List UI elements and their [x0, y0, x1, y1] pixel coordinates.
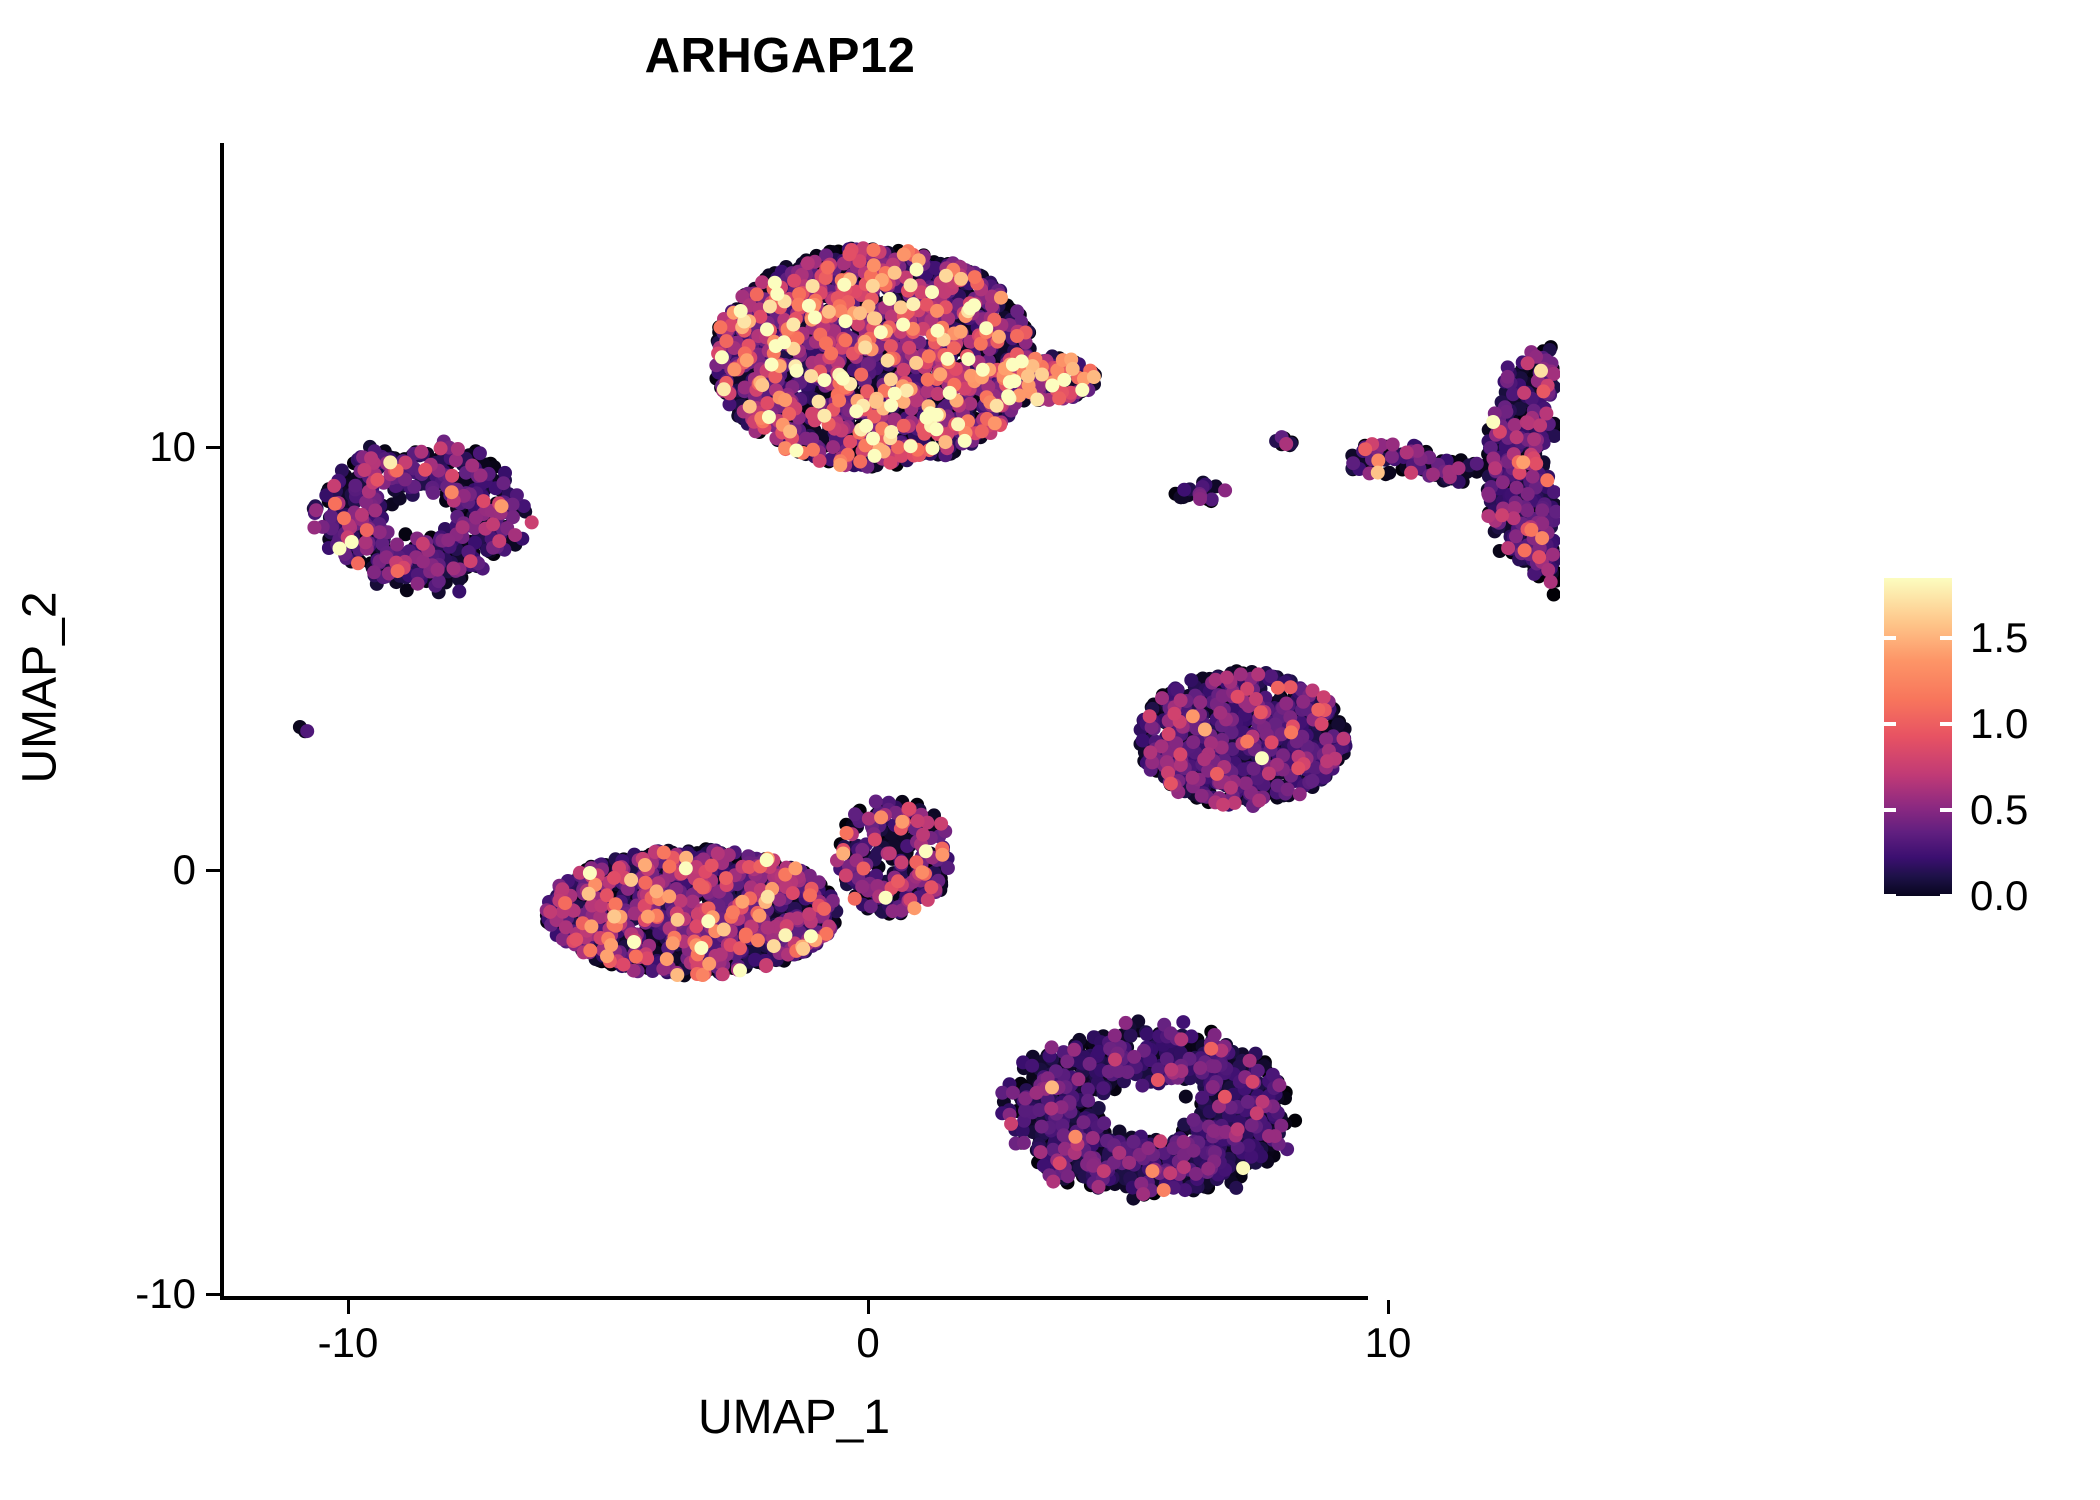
scatter-point — [1203, 672, 1217, 686]
scatter-point — [1541, 470, 1555, 484]
scatter-point — [945, 402, 959, 416]
scatter-point — [1243, 742, 1257, 756]
scatter-point — [1018, 385, 1032, 399]
scatter-point — [654, 909, 668, 923]
scatter-point — [988, 407, 1002, 421]
scatter-point — [361, 519, 375, 533]
scatter-point — [1061, 1073, 1075, 1087]
scatter-point — [484, 459, 498, 473]
scatter-point — [393, 492, 407, 506]
scatter-point — [1236, 685, 1250, 699]
scatter-point — [379, 554, 393, 568]
scatter-point — [916, 876, 930, 890]
scatter-point — [550, 912, 564, 926]
scatter-point — [1530, 491, 1544, 505]
scatter-point — [699, 905, 713, 919]
scatter-point — [1003, 1077, 1017, 1091]
scatter-point — [372, 453, 386, 467]
scatter-point — [1057, 377, 1071, 391]
scatter-point — [901, 840, 915, 854]
scatter-point — [1012, 374, 1026, 388]
scatter-point — [978, 425, 992, 439]
scatter-point — [394, 549, 408, 563]
scatter-point — [571, 926, 585, 940]
scatter-point — [677, 968, 691, 982]
scatter-point — [1490, 415, 1504, 429]
scatter-point — [738, 293, 752, 307]
scatter-point — [1109, 1167, 1123, 1181]
scatter-point — [1274, 675, 1288, 689]
scatter-point — [1317, 697, 1331, 711]
scatter-point — [891, 279, 905, 293]
scatter-point — [1183, 1178, 1197, 1192]
scatter-point — [412, 540, 426, 554]
scatter-point — [976, 400, 990, 414]
scatter-point — [1055, 1139, 1069, 1153]
scatter-point — [919, 267, 933, 281]
scatter-point — [1151, 1062, 1165, 1076]
scatter-point — [1501, 461, 1515, 475]
scatter-point — [916, 400, 930, 414]
scatter-point — [468, 461, 482, 475]
scatter-point — [1227, 1066, 1241, 1080]
scatter-point — [869, 808, 883, 822]
scatter-point — [611, 863, 625, 877]
scatter-point — [1204, 1041, 1218, 1055]
scatter-point — [611, 873, 625, 887]
scatter-point — [728, 347, 742, 361]
scatter-point — [1244, 1078, 1258, 1092]
scatter-point — [644, 848, 658, 862]
scatter-point — [391, 464, 405, 478]
scatter-point — [1512, 524, 1526, 538]
scatter-point — [1158, 770, 1172, 784]
scatter-point — [1159, 1166, 1173, 1180]
scatter-point — [1528, 494, 1542, 508]
scatter-point — [1506, 405, 1520, 419]
scatter-point — [714, 944, 728, 958]
scatter-point — [1180, 1147, 1194, 1161]
scatter-point — [1068, 1081, 1082, 1095]
scatter-point — [1546, 497, 1560, 511]
scatter-point — [738, 862, 752, 876]
scatter-point — [366, 490, 380, 504]
scatter-point — [1217, 1132, 1231, 1146]
scatter-point — [954, 328, 968, 342]
scatter-point — [425, 571, 439, 585]
scatter-point — [726, 333, 740, 347]
scatter-point — [490, 512, 504, 526]
scatter-point — [450, 519, 464, 533]
scatter-point — [574, 889, 588, 903]
scatter-point — [778, 425, 792, 439]
scatter-point — [1237, 750, 1251, 764]
scatter-point — [944, 394, 958, 408]
scatter-point — [611, 925, 625, 939]
scatter-point — [1214, 1092, 1228, 1106]
scatter-point — [926, 310, 940, 324]
scatter-point — [1104, 1074, 1118, 1088]
scatter-point — [1086, 366, 1100, 380]
scatter-point — [845, 332, 859, 346]
scatter-point — [1134, 1130, 1148, 1144]
scatter-point — [600, 918, 614, 932]
scatter-point — [1509, 527, 1523, 541]
scatter-point — [1041, 1084, 1055, 1098]
scatter-point — [728, 845, 742, 859]
scatter-point — [897, 384, 911, 398]
scatter-point — [683, 953, 697, 967]
scatter-point — [1189, 1157, 1203, 1171]
scatter-point — [1193, 674, 1207, 688]
scatter-point — [837, 271, 851, 285]
scatter-point — [701, 956, 715, 970]
scatter-point — [778, 888, 792, 902]
scatter-point — [737, 299, 751, 313]
scatter-point — [905, 426, 919, 440]
scatter-point — [912, 424, 926, 438]
scatter-point — [977, 423, 991, 437]
scatter-point — [1183, 1120, 1197, 1134]
scatter-point — [1523, 417, 1537, 431]
scatter-point — [1285, 707, 1299, 721]
scatter-point — [987, 375, 1001, 389]
scatter-point — [910, 351, 924, 365]
scatter-point — [855, 356, 869, 370]
scatter-point — [1094, 1063, 1108, 1077]
scatter-point — [923, 447, 937, 461]
scatter-point — [1215, 776, 1229, 790]
scatter-point — [829, 292, 843, 306]
scatter-point — [349, 485, 363, 499]
scatter-point — [963, 323, 977, 337]
scatter-point — [1297, 778, 1311, 792]
scatter-point — [1094, 1054, 1108, 1068]
scatter-point — [343, 537, 357, 551]
scatter-point — [794, 884, 808, 898]
scatter-point — [818, 911, 832, 925]
scatter-point — [1055, 1149, 1069, 1163]
scatter-point — [370, 553, 384, 567]
scatter-point — [882, 365, 896, 379]
scatter-point — [1191, 692, 1205, 706]
scatter-point — [1227, 781, 1241, 795]
scatter-point — [1512, 479, 1526, 493]
scatter-point — [1048, 381, 1062, 395]
scatter-point — [336, 520, 350, 534]
scatter-point — [1105, 1044, 1119, 1058]
scatter-point — [1345, 449, 1359, 463]
scatter-point — [1504, 475, 1518, 489]
scatter-point — [565, 929, 579, 943]
scatter-point — [1144, 762, 1158, 776]
scatter-point — [716, 865, 730, 879]
scatter-point — [1382, 445, 1396, 459]
scatter-point — [601, 936, 615, 950]
scatter-point — [406, 554, 420, 568]
scatter-point — [609, 881, 623, 895]
scatter-point — [1175, 1029, 1189, 1043]
scatter-point — [1048, 1117, 1062, 1131]
scatter-point — [888, 401, 902, 415]
scatter-point — [948, 332, 962, 346]
scatter-point — [1294, 708, 1308, 722]
scatter-point — [762, 914, 776, 928]
scatter-point — [747, 873, 761, 887]
scatter-point — [376, 531, 390, 545]
scatter-point — [720, 905, 734, 919]
scatter-point — [1143, 1135, 1157, 1149]
scatter-point — [1528, 542, 1542, 556]
scatter-point — [1378, 453, 1392, 467]
scatter-point — [478, 503, 492, 517]
scatter-point — [932, 302, 946, 316]
scatter-point — [540, 908, 554, 922]
scatter-point — [1516, 503, 1530, 517]
scatter-point — [961, 366, 975, 380]
scatter-point — [1525, 446, 1539, 460]
scatter-point — [875, 356, 889, 370]
scatter-point — [818, 402, 832, 416]
scatter-point — [751, 317, 765, 331]
scatter-point — [781, 321, 795, 335]
scatter-point — [1159, 1163, 1173, 1177]
scatter-point — [1200, 1059, 1214, 1073]
scatter-point — [792, 917, 806, 931]
scatter-point — [936, 851, 950, 865]
scatter-point — [803, 881, 817, 895]
scatter-point — [1129, 1067, 1143, 1081]
scatter-point — [834, 338, 848, 352]
scatter-point — [868, 372, 882, 386]
scatter-point — [721, 903, 735, 917]
scatter-point — [1019, 326, 1033, 340]
scatter-point — [1228, 1085, 1242, 1099]
scatter-point — [854, 842, 868, 856]
scatter-point — [977, 380, 991, 394]
scatter-point — [1488, 524, 1502, 538]
scatter-point — [402, 466, 416, 480]
scatter-point — [1158, 710, 1172, 724]
scatter-point — [855, 312, 869, 326]
scatter-point — [550, 909, 564, 923]
scatter-point — [1073, 1047, 1087, 1061]
scatter-point — [1286, 680, 1300, 694]
scatter-point — [829, 904, 843, 918]
scatter-point — [777, 364, 791, 378]
scatter-point — [584, 906, 598, 920]
scatter-point — [985, 341, 999, 355]
scatter-point — [919, 888, 933, 902]
scatter-point — [1217, 1141, 1231, 1155]
scatter-point — [1196, 786, 1210, 800]
scatter-point — [1011, 362, 1025, 376]
scatter-point — [1219, 1048, 1233, 1062]
scatter-point — [649, 927, 663, 941]
scatter-point — [990, 393, 1004, 407]
scatter-point — [1406, 458, 1420, 472]
scatter-point — [1069, 1049, 1083, 1063]
scatter-point — [805, 436, 819, 450]
scatter-point — [1176, 490, 1190, 504]
scatter-point — [1238, 1057, 1252, 1071]
scatter-point — [703, 896, 717, 910]
scatter-point — [600, 881, 614, 895]
scatter-point — [1521, 380, 1535, 394]
scatter-point — [834, 366, 848, 380]
scatter-point — [968, 307, 982, 321]
scatter-point — [1041, 1095, 1055, 1109]
scatter-point — [947, 306, 961, 320]
scatter-point — [706, 955, 720, 969]
scatter-point — [1177, 770, 1191, 784]
scatter-point — [1262, 1110, 1276, 1124]
scatter-point — [1221, 1083, 1235, 1097]
scatter-point — [1237, 1097, 1251, 1111]
scatter-point — [554, 917, 568, 931]
scatter-point — [1259, 701, 1273, 715]
scatter-point — [593, 904, 607, 918]
scatter-point — [1211, 1045, 1225, 1059]
scatter-point — [894, 858, 908, 872]
scatter-point — [457, 538, 471, 552]
scatter-point — [614, 953, 628, 967]
scatter-point — [723, 944, 737, 958]
scatter-point — [1201, 1156, 1215, 1170]
scatter-point — [829, 431, 843, 445]
scatter-point — [839, 381, 853, 395]
scatter-point — [1504, 468, 1518, 482]
scatter-point — [917, 320, 931, 334]
scatter-point — [1195, 1072, 1209, 1086]
scatter-point — [1187, 772, 1201, 786]
scatter-point — [387, 483, 401, 497]
scatter-point — [441, 558, 455, 572]
scatter-point — [1541, 545, 1555, 559]
scatter-point — [1174, 1046, 1188, 1060]
scatter-point — [900, 405, 914, 419]
scatter-point — [1521, 527, 1535, 541]
scatter-point — [324, 526, 338, 540]
scatter-point — [766, 305, 780, 319]
scatter-point — [984, 296, 998, 310]
scatter-point — [1499, 458, 1513, 472]
scatter-point — [602, 871, 616, 885]
scatter-point — [348, 553, 362, 567]
scatter-point — [415, 564, 429, 578]
scatter-point — [651, 873, 665, 887]
scatter-point — [453, 549, 467, 563]
scatter-point — [803, 929, 817, 943]
scatter-point — [1433, 469, 1447, 483]
scatter-point — [735, 853, 749, 867]
scatter-point — [1303, 695, 1317, 709]
scatter-point — [1517, 436, 1531, 450]
scatter-point — [687, 909, 701, 923]
scatter-point — [763, 923, 777, 937]
scatter-point — [1038, 361, 1052, 375]
scatter-point — [1217, 1166, 1231, 1180]
scatter-point — [618, 940, 632, 954]
scatter-point — [464, 505, 478, 519]
scatter-point — [1214, 1123, 1228, 1137]
scatter-point — [952, 299, 966, 313]
scatter-point — [1032, 1143, 1046, 1157]
scatter-point — [1034, 1104, 1048, 1118]
scatter-point — [594, 857, 608, 871]
scatter-point — [927, 307, 941, 321]
scatter-point — [1148, 744, 1162, 758]
scatter-point — [1021, 351, 1035, 365]
scatter-point — [1254, 1142, 1268, 1156]
scatter-point — [1037, 354, 1051, 368]
scatter-point — [703, 962, 717, 976]
scatter-point — [914, 857, 928, 871]
scatter-point — [484, 518, 498, 532]
scatter-point — [688, 921, 702, 935]
scatter-point — [994, 379, 1008, 393]
scatter-point — [1044, 359, 1058, 373]
scatter-point — [734, 410, 748, 424]
scatter-point — [1194, 707, 1208, 721]
scatter-point — [352, 531, 366, 545]
scatter-point — [1102, 1044, 1116, 1058]
scatter-point — [745, 360, 759, 374]
scatter-point — [1512, 552, 1526, 566]
scatter-point — [828, 916, 842, 930]
scatter-point — [363, 517, 377, 531]
scatter-point — [884, 885, 898, 899]
scatter-point — [1544, 561, 1558, 575]
scatter-point — [746, 405, 760, 419]
scatter-point — [562, 884, 576, 898]
scatter-point — [665, 925, 679, 939]
scatter-point — [754, 417, 768, 431]
scatter-point — [776, 891, 790, 905]
scatter-point — [803, 429, 817, 443]
scatter-point — [1066, 1144, 1080, 1158]
scatter-point — [1070, 1125, 1084, 1139]
scatter-point — [983, 280, 997, 294]
scatter-point — [683, 857, 697, 871]
scatter-point — [761, 352, 775, 366]
scatter-point — [886, 436, 900, 450]
scatter-point — [941, 257, 955, 271]
scatter-point — [1162, 1155, 1176, 1169]
scatter-point — [952, 364, 966, 378]
scatter-point — [937, 339, 951, 353]
scatter-point — [1275, 787, 1289, 801]
scatter-point — [1521, 548, 1535, 562]
scatter-point — [803, 907, 817, 921]
scatter-point — [1194, 1065, 1208, 1079]
scatter-point — [596, 949, 610, 963]
scatter-point — [1000, 387, 1014, 401]
scatter-point — [760, 897, 774, 911]
scatter-point — [1213, 713, 1227, 727]
scatter-point — [756, 957, 770, 971]
scatter-point — [1042, 1121, 1056, 1135]
scatter-point — [366, 561, 380, 575]
scatter-point — [917, 380, 931, 394]
scatter-point — [570, 900, 584, 914]
scatter-point — [467, 552, 481, 566]
scatter-point — [1210, 1073, 1224, 1087]
scatter-point — [556, 885, 570, 899]
scatter-point — [1011, 390, 1025, 404]
scatter-point — [1012, 374, 1026, 388]
scatter-point — [918, 286, 932, 300]
